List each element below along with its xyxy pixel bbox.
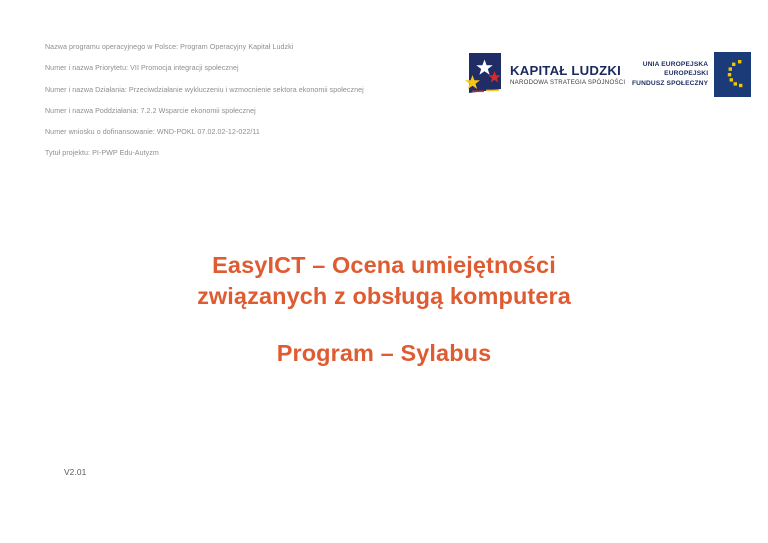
- eu-flag-icon: [714, 52, 751, 97]
- meta-line-priority: Numer i nazwa Priorytetu: VII Promocja i…: [45, 65, 445, 72]
- logo-bar: KAPITAŁ LUDZKI NARODOWA STRATEGIA SPÓJNO…: [463, 48, 748, 108]
- eu-line-fund-1: EUROPEJSKI: [632, 69, 708, 78]
- eu-line-union: UNIA EUROPEJSKA: [632, 60, 708, 69]
- meta-line-sub-action: Numer i nazwa Poddziałania: 7.2.2 Wsparc…: [45, 108, 445, 115]
- header-meta-block: Nazwa programu operacyjnego w Polsce: Pr…: [45, 44, 445, 172]
- page-subtitle: Program – Sylabus: [0, 338, 768, 369]
- kapital-ludzki-logo: KAPITAŁ LUDZKI NARODOWA STRATEGIA SPÓJNO…: [463, 48, 625, 100]
- page-title-line-1: EasyICT – Ocena umiejętności: [0, 250, 768, 281]
- version-label: V2.01: [64, 468, 86, 476]
- meta-line-action: Numer i nazwa Działania: Przeciwdziałani…: [45, 87, 445, 94]
- unia-europejska-logo: UNIA EUROPEJSKA EUROPEJSKI FUNDUSZ SPOŁE…: [632, 50, 751, 98]
- unia-europejska-wordmark: UNIA EUROPEJSKA EUROPEJSKI FUNDUSZ SPOŁE…: [632, 60, 714, 87]
- meta-line-project-title: Tytuł projektu: PI-PWP Edu-Autyzm: [45, 150, 445, 157]
- document-page: Nazwa programu operacyjnego w Polsce: Pr…: [0, 0, 768, 543]
- eu-line-fund-2: FUNDUSZ SPOŁECZNY: [632, 79, 708, 88]
- kapital-ludzki-subtitle: NARODOWA STRATEGIA SPÓJNOŚCI: [510, 80, 625, 86]
- meta-line-program-name: Nazwa programu operacyjnego w Polsce: Pr…: [45, 44, 445, 51]
- kapital-ludzki-emblem-icon: [463, 51, 504, 97]
- page-title-line-2: związanych z obsługą komputera: [0, 281, 768, 312]
- kapital-ludzki-name: KAPITAŁ LUDZKI: [510, 64, 625, 77]
- page-title: EasyICT – Ocena umiejętności związanych …: [0, 250, 768, 369]
- kapital-ludzki-wordmark: KAPITAŁ LUDZKI NARODOWA STRATEGIA SPÓJNO…: [510, 62, 625, 86]
- meta-line-application-number: Numer wniosku o dofinansowanie: WND-POKL…: [45, 129, 445, 136]
